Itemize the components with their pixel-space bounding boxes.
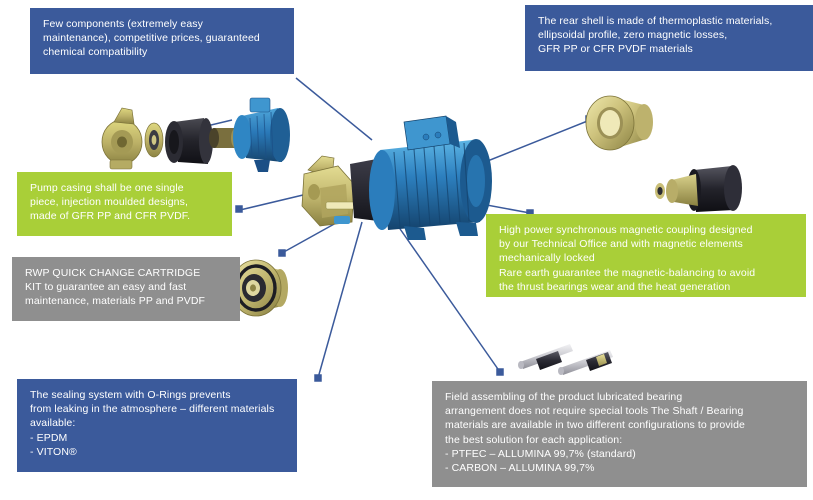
dot-sealing-system [315, 375, 321, 381]
shaft-assembly-2 [558, 350, 613, 375]
exploded-impeller [145, 123, 163, 157]
exploded-rear-shell [165, 118, 213, 164]
magnet-coupling-part [648, 160, 758, 220]
connector-sealing-system [318, 222, 362, 378]
motor-body [369, 116, 492, 240]
callout-shaft-bearing: Field assembling of the product lubricat… [432, 381, 807, 487]
exploded-brass-casing [102, 108, 142, 169]
motor-foot-front [404, 226, 426, 240]
callout-few-components: Few components (extremely easy maintenan… [30, 8, 294, 74]
dot-pump-casing [236, 206, 242, 212]
connector-shaft-bearing [398, 226, 500, 372]
diagram-canvas: Few components (extremely easy maintenan… [0, 0, 813, 500]
callout-rwp-cartridge: RWP QUICK CHANGE CARTRIDGE KIT to guaran… [12, 257, 240, 321]
exploded-pump-assembly [92, 78, 297, 178]
shaft-bearing-parts [516, 332, 626, 387]
callout-rear-shell: The rear shell is made of thermoplastic … [525, 5, 813, 71]
callout-sealing-system: The sealing system with O-Rings prevents… [17, 379, 297, 472]
exploded-motor [233, 98, 290, 172]
dot-shaft-bearing [497, 369, 503, 375]
callout-pump-casing: Pump casing shall be one single piece, i… [17, 172, 232, 236]
motor-foot-rear [456, 222, 478, 236]
shaft-assembly-1 [518, 344, 573, 370]
rear-shell-part [578, 83, 678, 163]
callout-magnetic-coupling: High power synchronous magnetic coupling… [486, 214, 806, 297]
assembled-pump-motor [300, 118, 515, 243]
